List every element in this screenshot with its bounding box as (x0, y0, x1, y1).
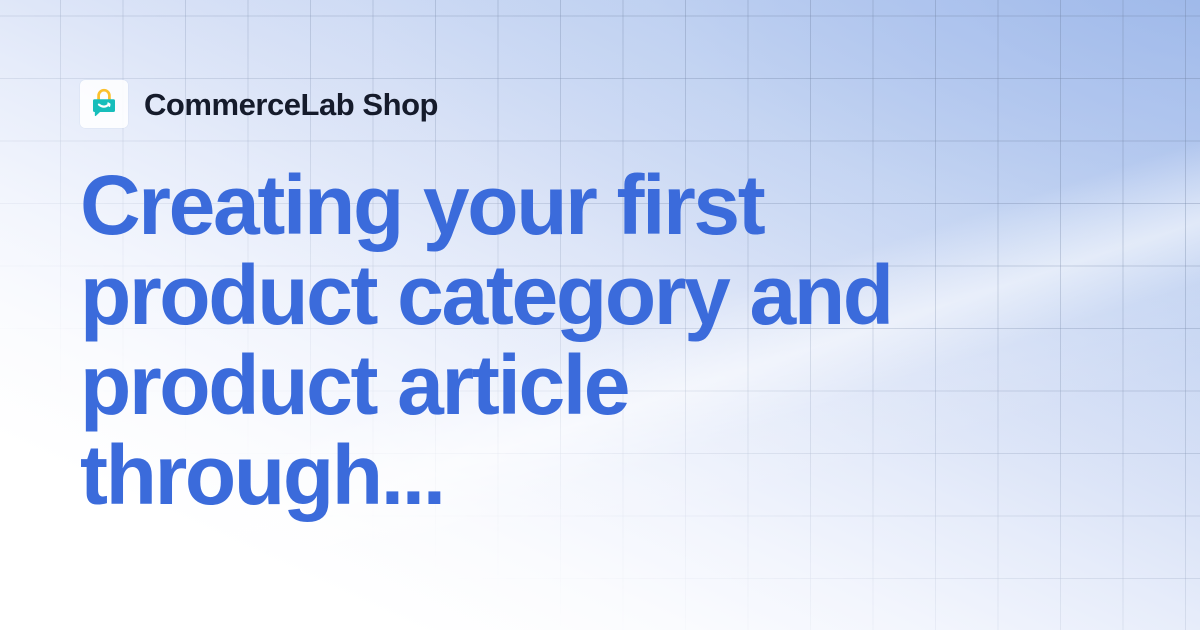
social-share-card: CommerceLab Shop Creating your first pro… (0, 0, 1200, 630)
headline-line-1: Creating your first (80, 160, 1090, 250)
brand-logo-tile (80, 80, 128, 128)
page-title: Creating your first product category and… (80, 160, 1090, 520)
card-content: CommerceLab Shop Creating your first pro… (0, 0, 1200, 630)
headline-line-3: product article (80, 340, 1090, 430)
shopping-bag-chat-icon (87, 87, 121, 121)
headline-line-2: product category and (80, 250, 1090, 340)
headline-line-4: through... (80, 430, 1090, 520)
brand-name: CommerceLab Shop (144, 89, 438, 120)
brand-header: CommerceLab Shop (80, 80, 438, 128)
